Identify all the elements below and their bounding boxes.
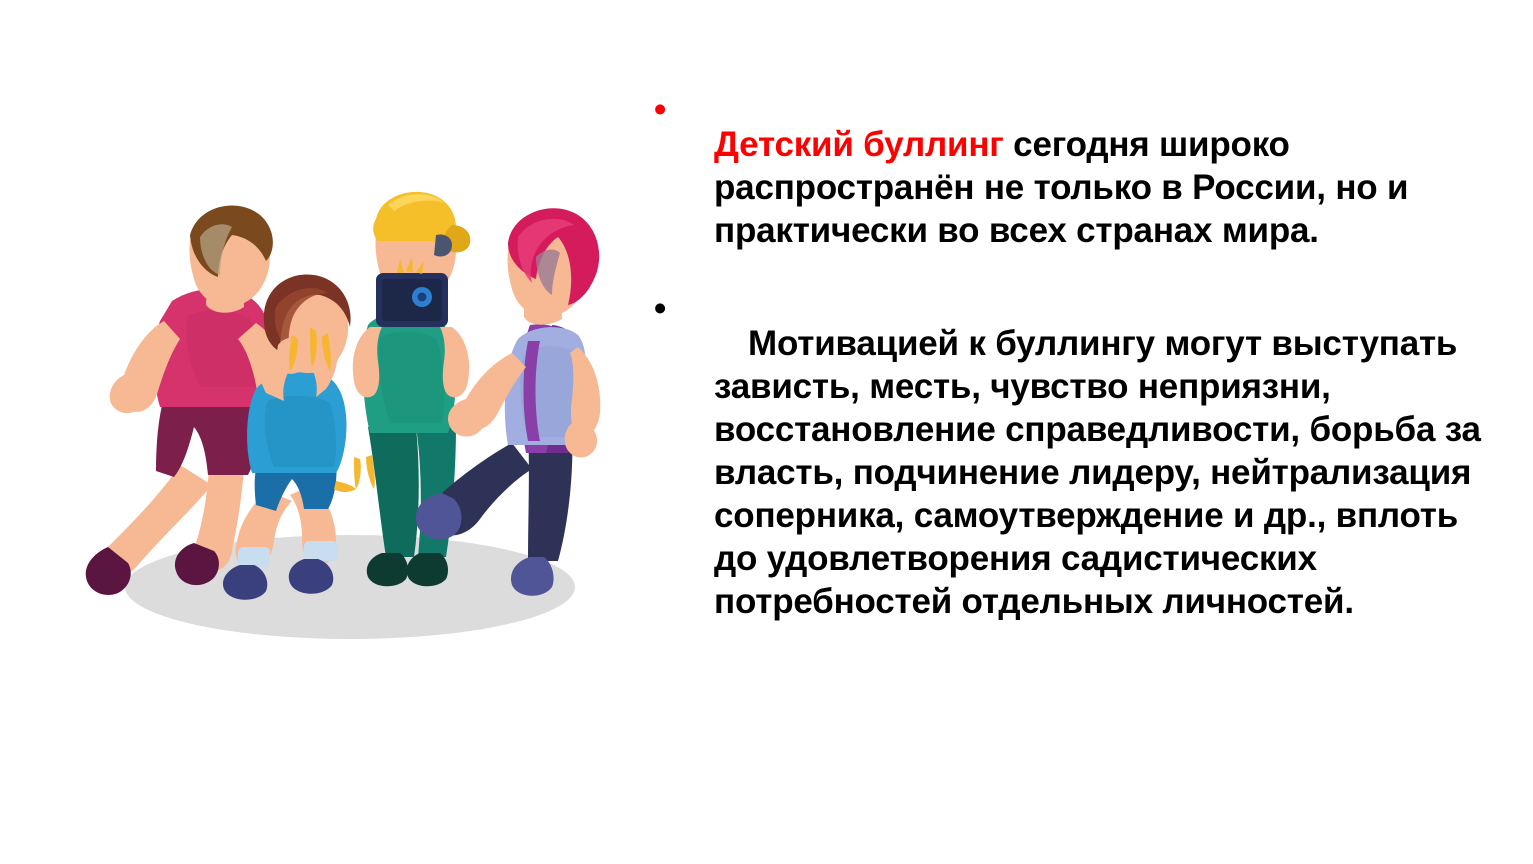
bullet-1-emphasis: Детский буллинг [714,125,1004,164]
bullet-text-2: Мотивацией к буллингу могут выступать за… [676,322,1493,623]
slide-text-column: • Детский буллинг сегодня широко распрос… [648,88,1493,658]
bullying-illustration [60,175,620,655]
bullet-item-2: • Мотивацией к буллингу могут выступать … [648,287,1493,658]
bullet-item-1: • Детский буллинг сегодня широко распрос… [648,88,1493,287]
bullet-text-1: Детский буллинг сегодня широко распростр… [676,123,1493,252]
presentation-slide: • Детский буллинг сегодня широко распрос… [0,0,1533,864]
bullying-illustration-svg [60,175,620,655]
bullet-marker-1: • [648,88,676,131]
bullet-2-rest: Мотивацией к буллингу могут выступать за… [714,324,1481,621]
bullet-marker-2: • [648,287,676,330]
